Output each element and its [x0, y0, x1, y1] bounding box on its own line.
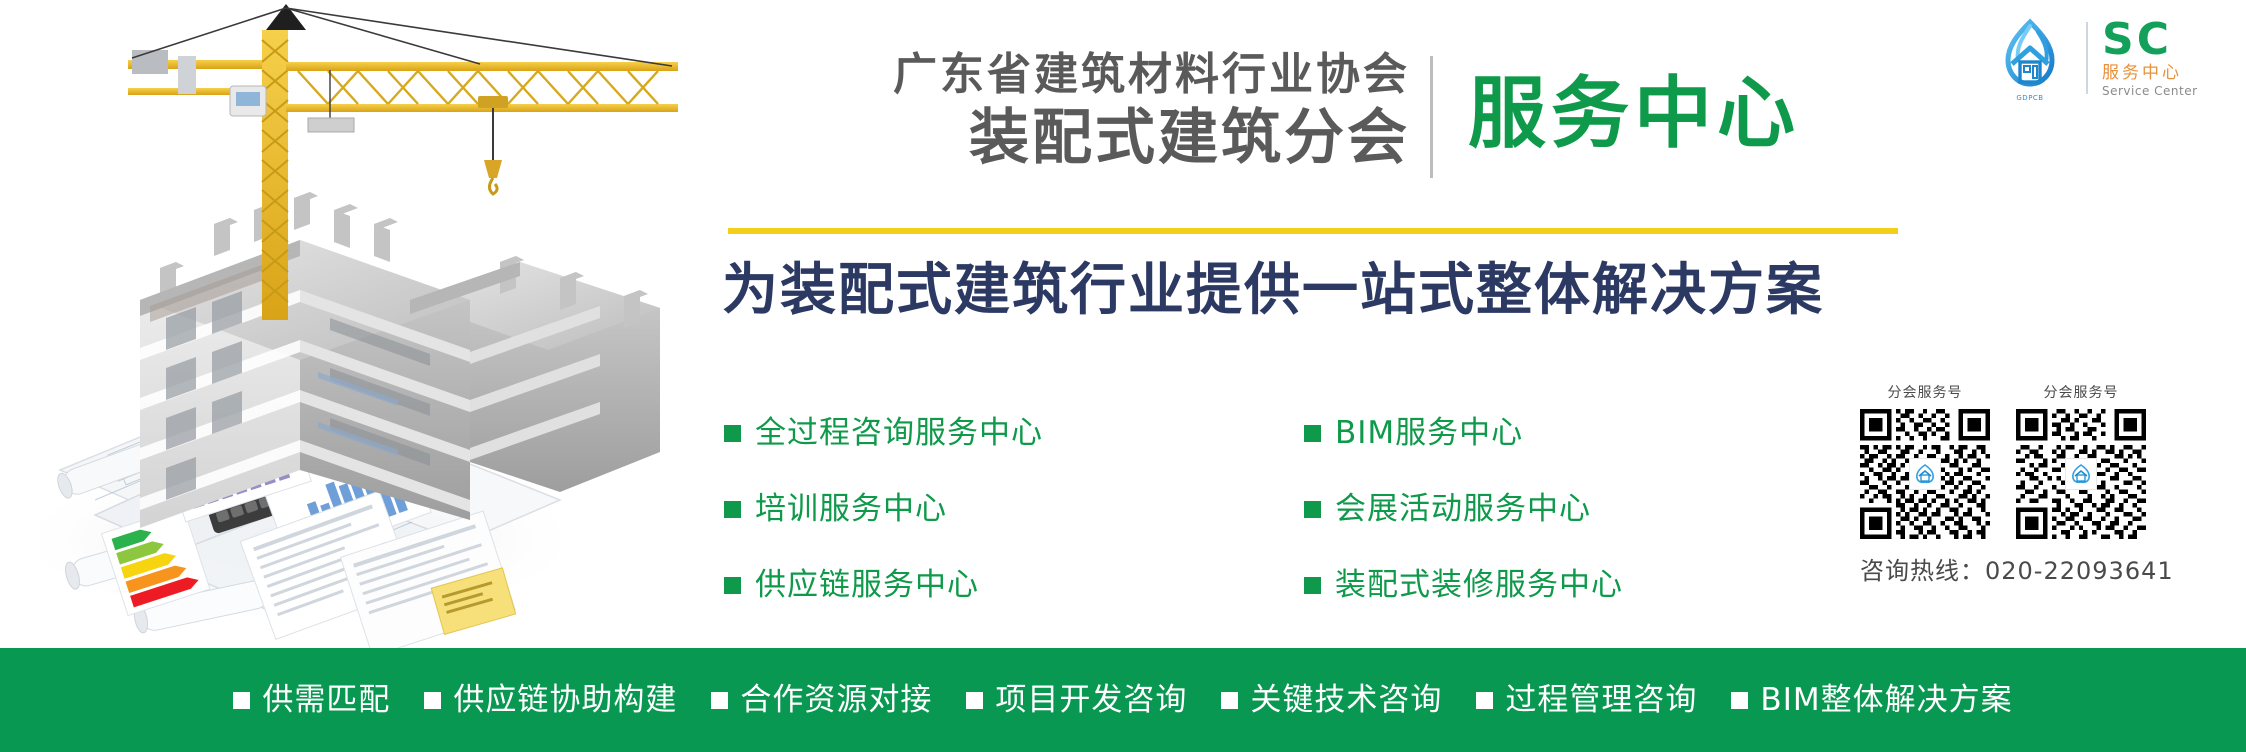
square-bullet-icon [1304, 425, 1321, 442]
service-center-heading: 服务中心 [1468, 66, 1800, 162]
capability-label: BIM整体解决方案 [1760, 680, 2012, 720]
capability-label: 过程管理咨询 [1505, 680, 1697, 720]
service-column-left: 全过程咨询服务中心 培训服务中心 供应链服务中心 [724, 410, 1043, 638]
organization-name: 广东省建筑材料行业协会 装配式建筑分会 [820, 48, 1410, 174]
service-item[interactable]: 供应链服务中心 [724, 562, 1043, 608]
service-item-label: BIM服务中心 [1335, 413, 1523, 453]
service-item[interactable]: 全过程咨询服务中心 [724, 410, 1043, 456]
service-column-right: BIM服务中心 会展活动服务中心 装配式装修服务中心 [1304, 410, 1623, 638]
qr-code-item[interactable]: 分会服务号 [2016, 382, 2146, 539]
qr-contact-block: 分会服务号 [1860, 382, 2232, 586]
capability-label: 项目开发咨询 [995, 680, 1187, 720]
promo-banner: 广东省建筑材料行业协会 装配式建筑分会 服务中心 为装配式建筑行业提供一站式整体… [0, 0, 2246, 752]
capability-item[interactable]: 供需匹配 [233, 680, 390, 720]
logo-text-group: SC 服务中心 Service Center [2102, 17, 2198, 99]
construction-illustration [0, 0, 700, 648]
square-bullet-icon [724, 577, 741, 594]
capability-item[interactable]: 项目开发咨询 [966, 680, 1187, 720]
square-bullet-icon [233, 692, 250, 709]
square-bullet-icon [724, 425, 741, 442]
qr-code-image[interactable] [1860, 409, 1990, 539]
logo-chinese-name: 服务中心 [2102, 63, 2198, 84]
house-flame-icon [1988, 16, 2072, 100]
qr-code-image[interactable] [2016, 409, 2146, 539]
yellow-divider-rule [728, 228, 1898, 234]
logo-abbreviation: SC [2102, 17, 2198, 63]
capability-label: 合作资源对接 [740, 680, 932, 720]
gdpcb-logo-mark: GDPCB [1988, 16, 2072, 100]
logo-english-name: Service Center [2102, 84, 2198, 99]
capability-item[interactable]: 供应链协助构建 [424, 680, 677, 720]
service-item[interactable]: BIM服务中心 [1304, 410, 1623, 456]
capability-item[interactable]: 过程管理咨询 [1476, 680, 1697, 720]
service-item[interactable]: 装配式装修服务中心 [1304, 562, 1623, 608]
service-item-label: 装配式装修服务中心 [1335, 565, 1623, 605]
bottom-capability-bar: 供需匹配 供应链协助构建 合作资源对接 项目开发咨询 关键技术咨询 过程管理咨询… [0, 648, 2246, 752]
square-bullet-icon [1304, 577, 1321, 594]
square-bullet-icon [724, 501, 741, 518]
header-vertical-divider [1430, 56, 1433, 178]
logo-mark-caption: GDPCB [1988, 94, 2072, 102]
org-name-line-1: 广东省建筑材料行业协会 [820, 48, 1410, 102]
square-bullet-icon [1304, 501, 1321, 518]
logo-vertical-divider [2086, 22, 2088, 94]
tagline: 为装配式建筑行业提供一站式整体解决方案 [722, 255, 1824, 327]
service-item-label: 全过程咨询服务中心 [755, 413, 1043, 453]
square-bullet-icon [1731, 692, 1748, 709]
service-item-label: 供应链服务中心 [755, 565, 979, 605]
qr-center-logo-icon [1909, 458, 1941, 490]
service-item[interactable]: 培训服务中心 [724, 486, 1043, 532]
service-item[interactable]: 会展活动服务中心 [1304, 486, 1623, 532]
qr-code-pair: 分会服务号 [1860, 382, 2232, 539]
construction-hero-image [0, 0, 700, 648]
qr-center-logo-icon [2065, 458, 2097, 490]
gdpcb-house-icon [2069, 462, 2093, 486]
square-bullet-icon [711, 692, 728, 709]
capability-label: 供应链协助构建 [453, 680, 677, 720]
hotline-text: 咨询热线：020-22093641 [1860, 551, 2232, 586]
capability-label: 供需匹配 [262, 680, 390, 720]
service-item-label: 培训服务中心 [755, 489, 947, 529]
qr-caption: 分会服务号 [2016, 382, 2146, 402]
square-bullet-icon [1476, 692, 1493, 709]
capability-item[interactable]: 关键技术咨询 [1221, 680, 1442, 720]
service-item-label: 会展活动服务中心 [1335, 489, 1591, 529]
square-bullet-icon [1221, 692, 1238, 709]
org-name-line-2: 装配式建筑分会 [820, 102, 1410, 174]
qr-code-item[interactable]: 分会服务号 [1860, 382, 1990, 539]
capability-label: 关键技术咨询 [1250, 680, 1442, 720]
square-bullet-icon [966, 692, 983, 709]
gdpcb-house-icon [1913, 462, 1937, 486]
capability-item[interactable]: 合作资源对接 [711, 680, 932, 720]
header-block: 广东省建筑材料行业协会 装配式建筑分会 服务中心 [820, 48, 1940, 188]
brand-logo[interactable]: GDPCB SC 服务中心 Service Center [1988, 12, 2238, 104]
square-bullet-icon [424, 692, 441, 709]
capability-item[interactable]: BIM整体解决方案 [1731, 680, 2012, 720]
qr-caption: 分会服务号 [1860, 382, 1990, 402]
